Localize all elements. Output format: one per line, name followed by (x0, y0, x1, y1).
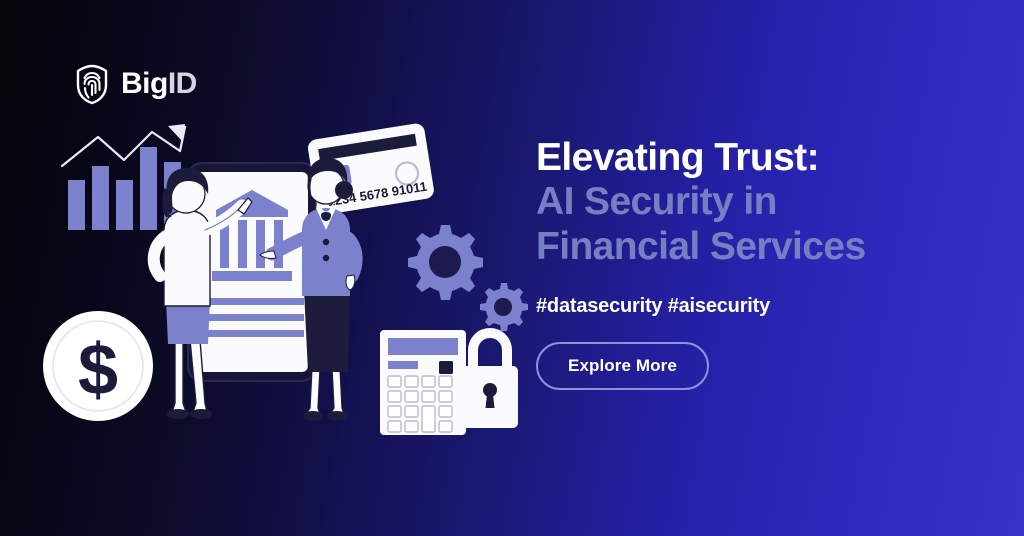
logo-text-big: Big (121, 67, 168, 100)
headline-line-3: Financial Services (536, 225, 996, 269)
finance-security-illustration: $ (40, 118, 530, 448)
promo-banner: BigID $ (0, 0, 1024, 536)
headline-line-2: AI Security in (536, 180, 996, 224)
gear-small-icon (480, 283, 528, 331)
hero-copy: Elevating Trust: AI Security in Financia… (536, 136, 996, 390)
trend-arrow-icon (62, 124, 185, 166)
explore-more-button[interactable]: Explore More (536, 342, 709, 390)
svg-text:$: $ (78, 330, 118, 410)
phone-text-lines (208, 298, 304, 337)
dollar-coin-icon: $ (43, 311, 153, 421)
gear-large-icon (408, 225, 483, 300)
padlock-icon (462, 328, 518, 428)
hashtags: #datasecurity #aisecurity (536, 295, 996, 318)
logo-text-id: ID (168, 67, 197, 100)
bigid-wordmark: BigID (121, 69, 197, 99)
calculator-icon (380, 330, 466, 435)
bigid-fingerprint-shield-icon (72, 62, 112, 106)
bigid-logo[interactable]: BigID (72, 62, 197, 106)
headline-line-1: Elevating Trust: (536, 136, 996, 180)
